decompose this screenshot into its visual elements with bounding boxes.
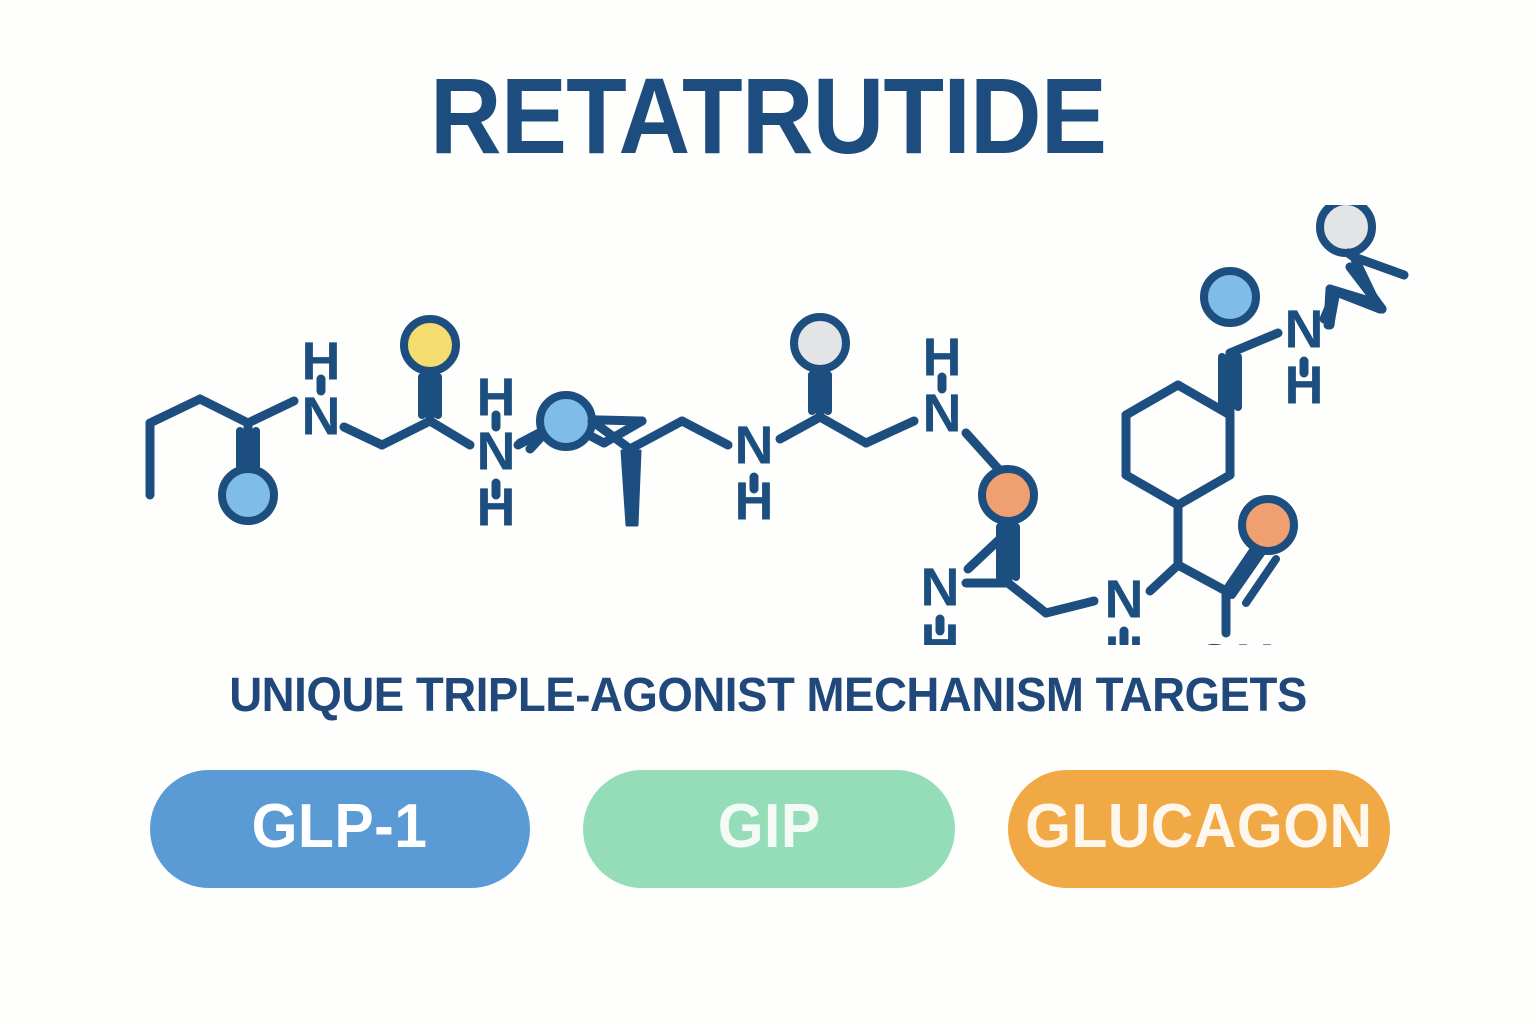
atom-oxygen-carboxyl [1242,499,1294,551]
stereo-wedge-fill [622,451,640,525]
atom-oxygen-ether [540,395,592,447]
bond-group-cyclohexane-ring [1126,385,1230,565]
atom-oxygen-carbonyl-4 [982,469,1034,521]
target-pill-glucagon-label: GLUCAGON [1025,796,1372,862]
page-title: RETATRUTIDE [61,62,1474,170]
bond-group-amide-3 [780,371,866,443]
bond-group-stereocenter [592,421,728,449]
bond-group-terminal-isopropanol [1328,257,1404,325]
atom-label-hydroxyl-carboxyl: OH [1194,633,1275,645]
retatrutide-skeletal-formula: .bond { stroke:#1d4e80; stroke-width:9; … [118,205,1418,645]
molecule-diagram: .bond { stroke:#1d4e80; stroke-width:9; … [118,205,1418,645]
atom-oxygen-carbonyl-2 [404,319,456,371]
bond-ch-oh [1348,253,1354,257]
atom-label-nitrogen-6: N [1105,569,1144,629]
atom-oxygen-carbonyl-3 [794,317,846,369]
bond-group-amide-5 [1222,333,1278,415]
subtitle: UNIQUE TRIPLE-AGONIST MECHANISM TARGETS [38,672,1497,720]
atom-oxygen-carbonyl-5 [1204,271,1256,323]
bond-group-glycine-1 [344,373,470,445]
bond-group-amide-4 [966,523,1094,613]
atom-oxygen-carbonyl-1 [222,469,274,521]
atom-oxygen-hydroxyl [1320,205,1372,253]
target-pill-glp1[interactable]: GLP-1 [150,770,530,888]
atom-label-nitrogen-3: N [735,415,774,475]
bond-group-alpha-carboxyl [1150,541,1276,633]
target-pill-glp1-label: GLP-1 [252,796,428,862]
atom-label-nitrogen-5: N [921,557,960,617]
target-pill-glucagon[interactable]: GLUCAGON [1008,770,1390,888]
poster-canvas: RETATRUTIDE .bond { stroke:#1d4e80; stro… [0,0,1536,1024]
target-pill-group: GLP-1 GIP GLUCAGON [150,768,1390,890]
bond-ch2-n4 [866,421,914,443]
target-pill-gip[interactable]: GIP [583,770,955,888]
atom-label-nitrogen-7: N [1285,299,1324,359]
target-pill-gip-label: GIP [718,796,821,862]
